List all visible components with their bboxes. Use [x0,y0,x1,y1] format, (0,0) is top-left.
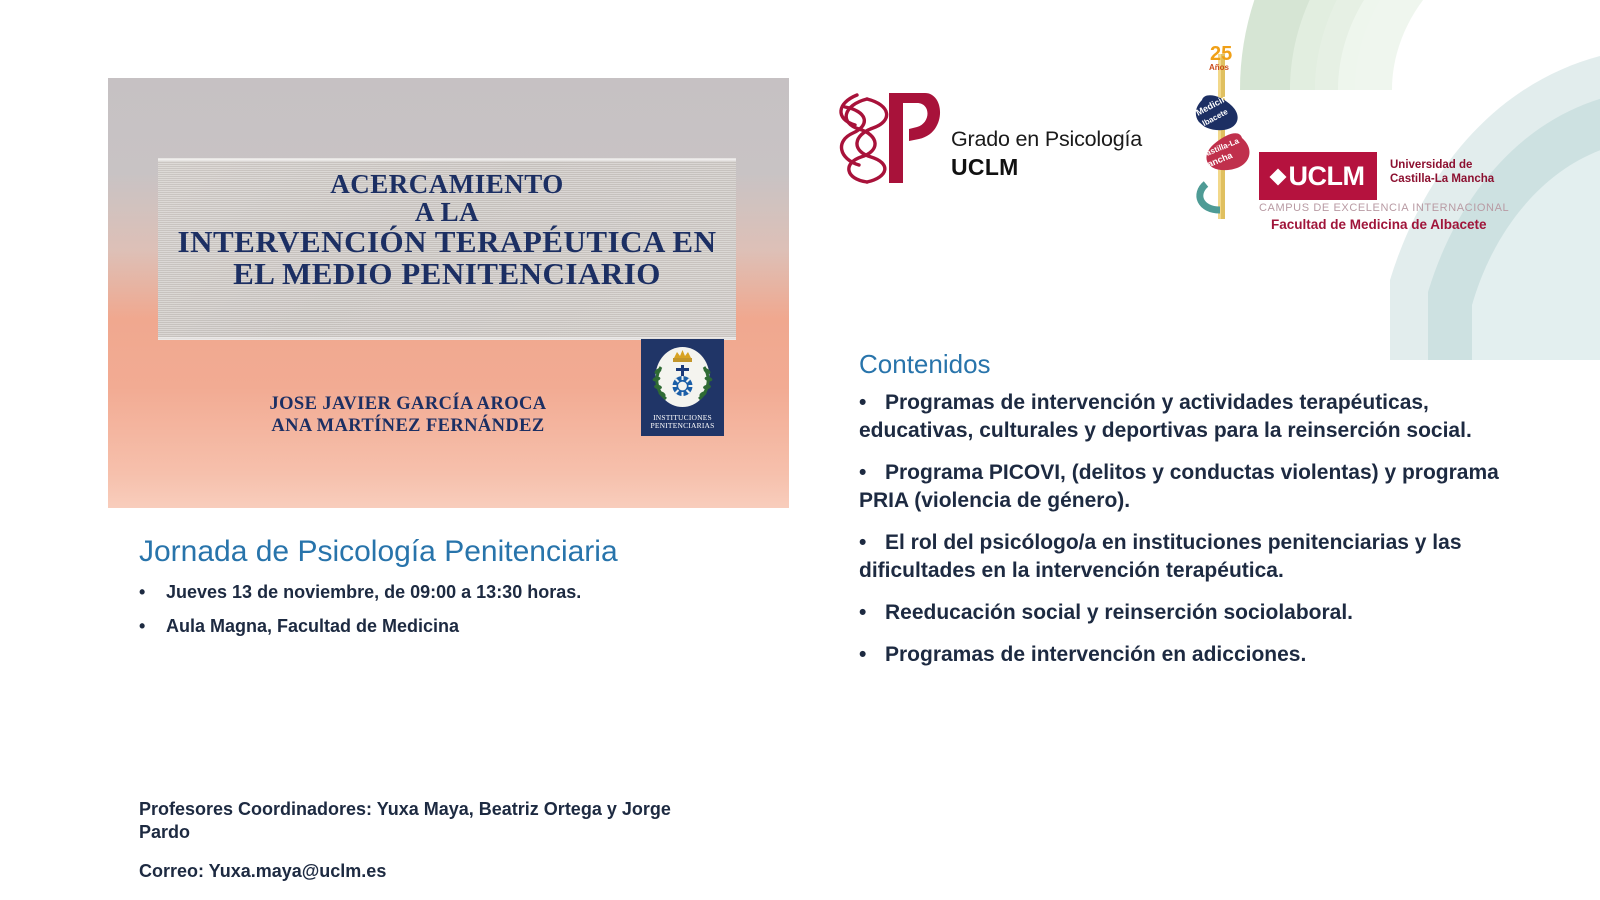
list-item-text: Aula Magna, Facultad de Medicina [166,616,459,636]
psi-knot-icon [833,85,951,190]
bullet-glyph-icon: • [859,389,885,417]
contenidos-bullet-list: •Programas de intervención y actividades… [859,389,1519,668]
uclm-diamond-icon [1269,169,1286,186]
caduceus-icon: 25 Años Medicina Albacete Castilla-La Ma… [1182,34,1262,224]
uclm-faculty-name: Facultad de Medicina de Albacete [1271,217,1487,232]
grado-psicologia-logo: Grado en Psicología UCLM [833,85,1143,190]
contact-email-note: Correo: Yuxa.maya@uclm.es [139,860,699,883]
bullet-glyph-icon: • [859,641,885,669]
uclm-facultad-medicina-logo: 25 Años Medicina Albacete Castilla-La Ma… [1168,20,1513,225]
bullet-glyph-icon: • [859,459,885,487]
contenidos-heading: Contenidos [859,350,1519,379]
list-item: •Reeducación social y reinserción sociol… [859,599,1519,627]
psicologia-logo-line-2: UCLM [951,154,1142,181]
list-item: •Programas de intervención en adicciones… [859,641,1519,669]
list-item-text: Jueves 13 de noviembre, de 09:00 a 13:30… [166,582,581,602]
list-item-text: Programa PICOVI, (delitos y conductas vi… [859,461,1499,512]
list-item-text: Programas de intervención en adicciones. [885,643,1306,666]
list-item: •Programa PICOVI, (delitos y conductas v… [859,459,1519,515]
list-item-text: Reeducación social y reinserción sociola… [885,601,1353,624]
instituciones-penitenciarias-emblem: INSTITUCIONES PENITENCIARIAS [641,339,724,436]
event-poster-image: ACERCAMIENTO A LA INTERVENCIÓN TERAPÉUTI… [108,78,789,508]
list-item-text: Programas de intervención y actividades … [859,391,1472,442]
poster-title-line-4: EL MEDIO PENITENCIARIO [158,258,736,290]
uclm-university-name: Universidad de Castilla-La Mancha [1390,158,1494,186]
poster-title-line-2: A LA [158,198,736,226]
list-item-text: El rol del psicólogo/a en instituciones … [859,531,1462,582]
bullet-glyph-icon: • [859,529,885,557]
bullet-glyph-icon: • [139,615,166,638]
list-item: •Programas de intervención y actividades… [859,389,1519,445]
left-heading: Jornada de Psicología Penitenciaria [139,535,699,569]
svg-text:Años: Años [1209,63,1230,72]
poster-title-line-1: ACERCAMIENTO [158,170,736,198]
left-text-column: Jornada de Psicología Penitenciaria •Jue… [139,535,699,649]
poster-author-2: ANA MARTÍNEZ FERNÁNDEZ [148,416,668,438]
slide-canvas: ACERCAMIENTO A LA INTERVENCIÓN TERAPÉUTI… [0,0,1600,900]
coordinators-note: Profesores Coordinadores: Yuxa Maya, Bea… [139,798,699,845]
poster-authors: JOSE JAVIER GARCÍA AROCA ANA MARTÍNEZ FE… [148,394,668,438]
uclm-university-line-2: Castilla-La Mancha [1390,172,1494,186]
uclm-wordmark: UCLM [1289,161,1365,192]
psicologia-logo-line-1: Grado en Psicología [951,127,1142,152]
list-item: •Aula Magna, Facultad de Medicina [139,615,699,638]
uclm-wordmark-box: UCLM [1259,152,1377,200]
uclm-campus-tagline: CAMPUS DE EXCELENCIA INTERNACIONAL [1259,202,1509,214]
bullet-glyph-icon: • [859,599,885,627]
list-item: •Jueves 13 de noviembre, de 09:00 a 13:3… [139,581,699,604]
emblem-caption: INSTITUCIONES PENITENCIARIAS [641,414,724,431]
poster-author-1: JOSE JAVIER GARCÍA AROCA [148,394,668,416]
right-text-column: Contenidos •Programas de intervención y … [859,350,1519,683]
bullet-glyph-icon: • [139,581,166,604]
poster-title: ACERCAMIENTO A LA INTERVENCIÓN TERAPÉUTI… [158,170,736,291]
svg-text:25: 25 [1210,43,1232,65]
left-bullet-list: •Jueves 13 de noviembre, de 09:00 a 13:3… [139,581,699,638]
emblem-caption-line-2: PENITENCIARIAS [641,422,724,431]
uclm-university-line-1: Universidad de [1390,158,1494,172]
list-item: •El rol del psicólogo/a en instituciones… [859,529,1519,585]
poster-title-line-3: INTERVENCIÓN TERAPÉUTICA EN [158,226,736,258]
